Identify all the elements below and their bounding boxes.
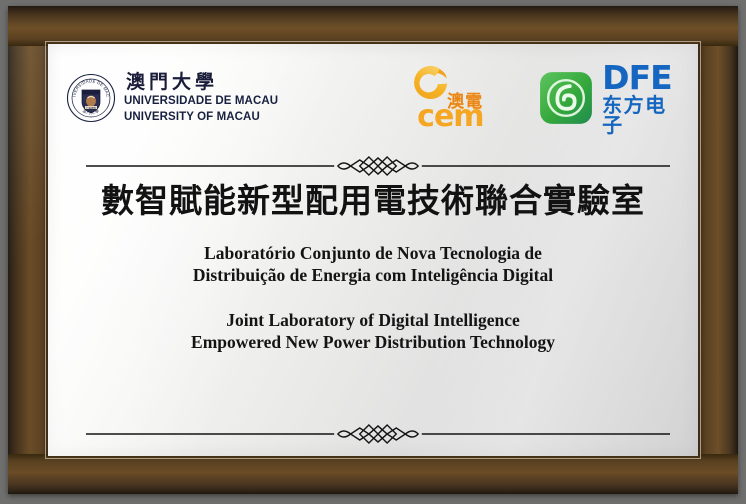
dfe-text: DFE 东方电子 <box>602 61 680 135</box>
ornamental-divider-top <box>86 154 670 178</box>
logo-row: UNIVERSIDADE DE MACAU 澳門大學 <box>48 56 698 140</box>
plaque-photo: UNIVERSIDADE DE MACAU 澳門大學 <box>0 0 746 504</box>
ornamental-divider-bottom <box>86 422 670 446</box>
wooden-frame: UNIVERSIDADE DE MACAU 澳門大學 <box>8 6 738 494</box>
plaque-title-portuguese-line2: Distribuição de Energia com Inteligência… <box>74 264 672 286</box>
logo-cem: 澳電 cem <box>401 61 497 135</box>
university-of-macau-text: 澳門大學 UNIVERSIDADE DE MACAU UNIVERSITY OF… <box>124 73 359 124</box>
plaque-title-portuguese: Laboratório Conjunto de Nova Tecnologia … <box>74 242 672 287</box>
um-chinese-name: 澳門大學 <box>126 71 218 93</box>
plaque-title-english-line1: Joint Laboratory of Digital Intelligence <box>74 309 672 331</box>
dfe-leaf-icon <box>539 71 593 125</box>
dfe-chinese-name: 东方电子 <box>602 95 680 135</box>
dfe-wordmark: DFE <box>602 61 680 94</box>
plaque-title-english: Joint Laboratory of Digital Intelligence… <box>74 309 672 354</box>
plaque-plate: UNIVERSIDADE DE MACAU 澳門大學 <box>48 44 698 456</box>
university-of-macau-crest-icon: UNIVERSIDADE DE MACAU 澳門大學 <box>66 73 116 123</box>
um-english-name: UNIVERSITY OF MACAU <box>124 111 260 123</box>
logo-university-of-macau: UNIVERSIDADE DE MACAU 澳門大學 <box>66 73 359 124</box>
plaque-title-chinese: 數智賦能新型配用電技術聯合實驗室 <box>74 182 672 220</box>
cem-wordmark: cem <box>417 102 483 132</box>
plaque-title-portuguese-line1: Laboratório Conjunto de Nova Tecnologia … <box>74 242 672 264</box>
plaque-text-block: 數智賦能新型配用電技術聯合實驗室 Laboratório Conjunto de… <box>48 182 698 354</box>
svg-text:仁義禮智: 仁義禮智 <box>86 106 97 110</box>
plaque-title-english-line2: Empowered New Power Distribution Technol… <box>74 331 672 353</box>
um-portuguese-name: UNIVERSIDADE DE MACAU <box>124 95 278 107</box>
logo-dfe: DFE 东方电子 <box>539 61 680 135</box>
